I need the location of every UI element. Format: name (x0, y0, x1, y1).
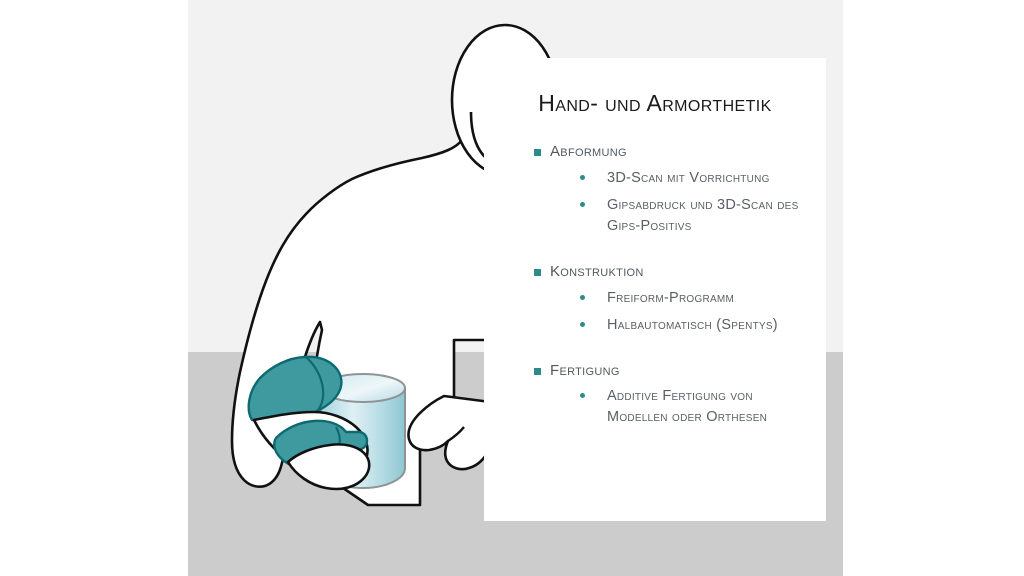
bullet-level1: Fertigung (502, 362, 808, 381)
bullet-level2: Gipsabdruck und 3D-Scan des Gips-Positiv… (502, 195, 808, 237)
bullet-level2: Halbautomatisch (Spentys) (502, 315, 808, 336)
bullet-level2: Freiform-Programm (502, 288, 808, 309)
dot-bullet-icon (580, 322, 585, 327)
dot-bullet-icon (580, 295, 585, 300)
dot-bullet-icon (580, 175, 585, 180)
group-konstruktion: Konstruktion Freiform-Programm Halbautom… (502, 263, 808, 336)
bullet-level2-label: Gipsabdruck und 3D-Scan des Gips-Positiv… (607, 197, 799, 234)
bullet-level2-label: Freiform-Programm (607, 290, 734, 306)
bullet-level2-label: Additive Fertigung von Modellen oder Ort… (607, 388, 767, 425)
bullet-level2-label: 3D-Scan mit Vorrichtung (607, 170, 770, 186)
dot-bullet-icon (580, 393, 585, 398)
bullet-level1: Abformung (502, 143, 808, 162)
content-card: Hand- und Armorthetik Abformung 3D-Scan … (484, 58, 826, 521)
group-fertigung: Fertigung Additive Fertigung von Modelle… (502, 362, 808, 429)
bullet-level1-label: Abformung (550, 143, 627, 160)
square-bullet-icon (534, 149, 541, 156)
dot-bullet-icon (580, 202, 585, 207)
bullet-level2-label: Halbautomatisch (Spentys) (607, 317, 778, 333)
bullet-level2: Additive Fertigung von Modellen oder Ort… (502, 386, 808, 428)
slide-root: Hand- und Armorthetik Abformung 3D-Scan … (0, 0, 1024, 576)
square-bullet-icon (534, 368, 541, 375)
bullet-level1-label: Konstruktion (550, 263, 644, 280)
bullet-level1: Konstruktion (502, 263, 808, 282)
bullet-level2: 3D-Scan mit Vorrichtung (502, 168, 808, 189)
page-title: Hand- und Armorthetik (502, 90, 808, 117)
bullet-level1-label: Fertigung (550, 362, 620, 379)
square-bullet-icon (534, 269, 541, 276)
group-abformung: Abformung 3D-Scan mit Vorrichtung Gipsab… (502, 143, 808, 237)
